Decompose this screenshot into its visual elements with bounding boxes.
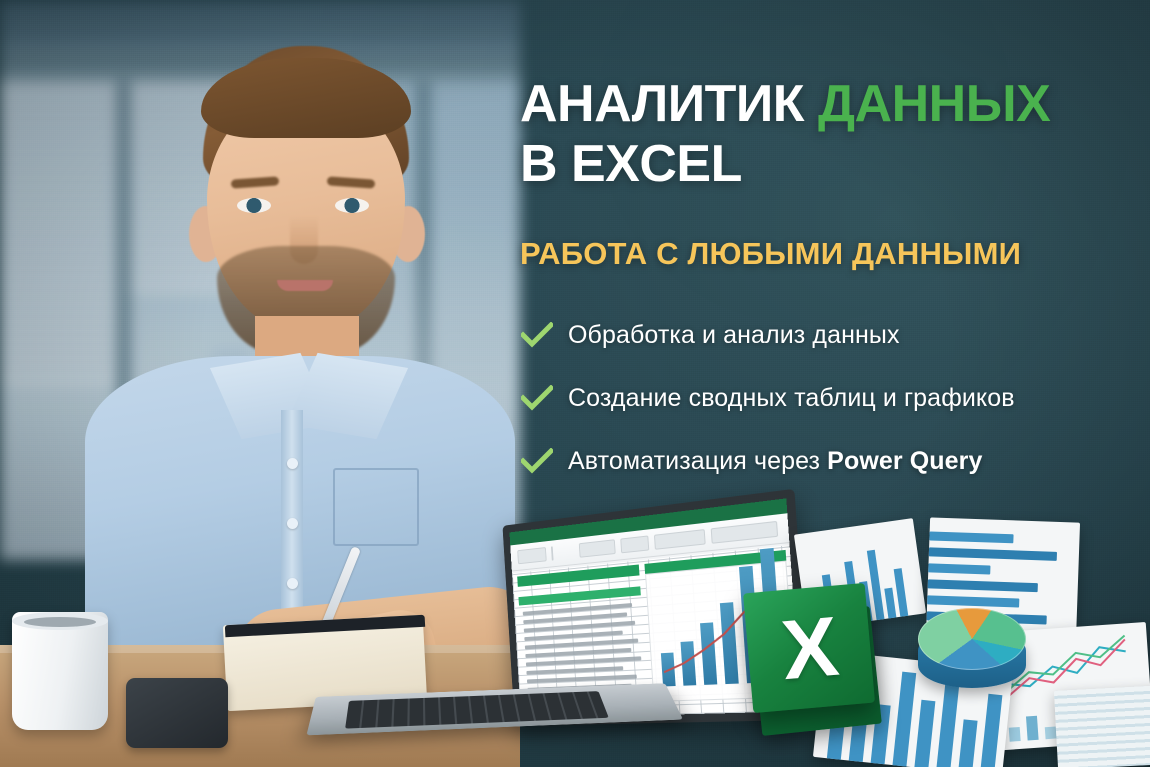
list-item: Обработка и анализ данных — [520, 318, 1150, 352]
mug-interior — [24, 617, 96, 627]
headline-white: АНАЛИТИК — [520, 75, 818, 133]
headline-line2: В EXCEL — [520, 138, 1150, 192]
list-item-label: Обработка и анализ данных — [568, 321, 900, 350]
list-item: Автоматизация через Power Query — [520, 444, 1150, 478]
check-icon — [520, 381, 554, 415]
feature-list: Обработка и анализ данных Создание сводн… — [520, 318, 1150, 507]
list-item-label: Создание сводных таблиц и графиков — [568, 384, 1015, 413]
list-item-label-bold: Power Query — [827, 447, 982, 475]
check-icon — [520, 318, 554, 352]
page-title: АНАЛИТИК ДАННЫХ В EXCEL — [520, 78, 1150, 191]
text-panel: АНАЛИТИК ДАННЫХ В EXCEL РАБОТА С ЛЮБЫМИ … — [512, 0, 1150, 767]
headline-green: ДАННЫХ — [818, 75, 1050, 133]
mouth — [277, 280, 333, 291]
shirt-button — [287, 458, 298, 469]
eye-right — [335, 198, 369, 213]
smartphone — [126, 678, 228, 748]
shirt-button — [287, 518, 298, 529]
list-item-label: Автоматизация через Power Query — [568, 447, 983, 476]
promo-banner: X АНАЛИТИК ДАННЫХ В EXCEL РАБОТА С ЛЮБЫМ… — [0, 0, 1150, 767]
list-item-label-text: Автоматизация через — [568, 447, 827, 475]
shirt-button — [287, 578, 298, 589]
hair-fringe — [201, 58, 411, 138]
list-item: Создание сводных таблиц и графиков — [520, 381, 1150, 415]
page-subtitle: РАБОТА С ЛЮБЫМИ ДАННЫМИ — [520, 236, 1150, 272]
check-icon — [520, 444, 554, 478]
eye-left — [237, 198, 271, 213]
